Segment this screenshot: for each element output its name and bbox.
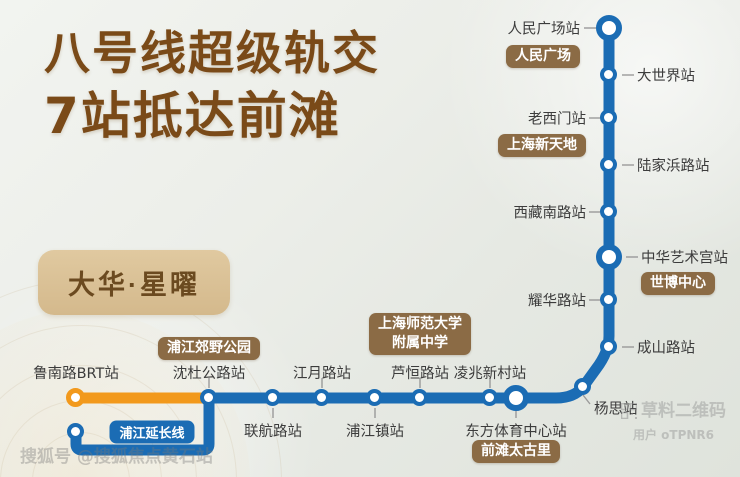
station-label-south-xizang-road: 西藏南路站 <box>514 202 587 223</box>
station-dot-luheng-road[interactable] <box>411 389 428 406</box>
watermark-qr-title: 草料二维码 <box>641 401 726 421</box>
station-label-yaohua-road: 耀华路站 <box>528 290 586 311</box>
watermark-sohu: 搜狐号 @搜狐焦点黄石站 <box>20 442 213 467</box>
station-label-laoximen: 老西门站 <box>528 108 586 129</box>
label-leader-ticks <box>209 28 638 418</box>
watermark-qr: 草料二维码 用户 oTPNR6 <box>621 396 726 443</box>
station-dot-south-xizang-road[interactable] <box>600 203 617 220</box>
station-dot-laoximen[interactable] <box>600 109 617 126</box>
station-dot-yangsi[interactable] <box>574 378 591 395</box>
station-label-china-art-museum: 中华艺术宫站 <box>641 247 728 268</box>
poi-badge-shnu-affiliated-school: 上海师范大学 附属中学 <box>369 313 471 355</box>
station-label-lujiabang-road: 陆家浜路站 <box>637 155 710 176</box>
station-dot-oriental-sports-center[interactable] <box>503 385 529 411</box>
transit-map-poster: 八号线超级轨交 7站抵达前滩 大华·星曜 <box>0 0 740 477</box>
poi-badge-expo-center: 世博中心 <box>641 272 715 295</box>
poi-badge-renmin-square: 人民广场 <box>506 45 580 68</box>
station-label-dashijie: 大世界站 <box>637 65 695 86</box>
station-dot-lianhang-road[interactable] <box>264 389 281 406</box>
poi-badge-shnu-line1: 上海师范大学 <box>378 315 462 334</box>
watermark-qr-user: 用户 oTPNR6 <box>621 426 726 443</box>
station-label-oriental-sports-center: 东方体育中心站 <box>465 420 567 441</box>
branch-line-tag: 浦江延长线 <box>109 421 194 444</box>
station-label-chengshan-road: 成山路站 <box>637 337 695 358</box>
station-dot-lunan-road-brt[interactable] <box>66 388 85 407</box>
station-label-lingzhao-xincun: 凌兆新村站 <box>454 362 527 383</box>
qr-code-icon <box>621 403 637 424</box>
station-label-pujiang-town: 浦江镇站 <box>346 420 404 441</box>
station-label-renmin-square: 人民广场站 <box>508 18 581 39</box>
station-label-lunan-road-brt: 鲁南路BRT站 <box>33 362 119 383</box>
station-dot-dashijie[interactable] <box>600 66 617 83</box>
station-dot-china-art-museum[interactable] <box>596 244 622 270</box>
poi-badge-pujiang-country-park: 浦江郊野公园 <box>158 337 260 360</box>
station-dot-renmin-square[interactable] <box>596 15 622 41</box>
station-dot-chengshan-road[interactable] <box>600 338 617 355</box>
poi-badge-shnu-line2: 附属中学 <box>378 334 462 353</box>
station-label-shendu-highway: 沈杜公路站 <box>173 362 246 383</box>
station-dot-yaohua-road[interactable] <box>600 291 617 308</box>
station-dot-pujiang-town[interactable] <box>366 389 383 406</box>
station-label-luheng-road: 芦恒路站 <box>391 362 449 383</box>
station-label-lianhang-road: 联航路站 <box>244 420 302 441</box>
station-dot-branch-terminus[interactable] <box>67 423 84 440</box>
poi-badge-xintiandi: 上海新天地 <box>498 134 586 157</box>
station-dot-jiangyue-road[interactable] <box>313 389 330 406</box>
poi-badge-qiantan-taikooli: 前滩太古里 <box>472 440 560 463</box>
station-dot-lujiabang-road[interactable] <box>600 156 617 173</box>
station-dot-lingzhao-xincun[interactable] <box>481 389 498 406</box>
station-dot-shendu-highway[interactable] <box>200 389 217 406</box>
watermark-qr-title-row: 草料二维码 <box>621 396 726 424</box>
station-label-jiangyue-road: 江月路站 <box>293 362 351 383</box>
